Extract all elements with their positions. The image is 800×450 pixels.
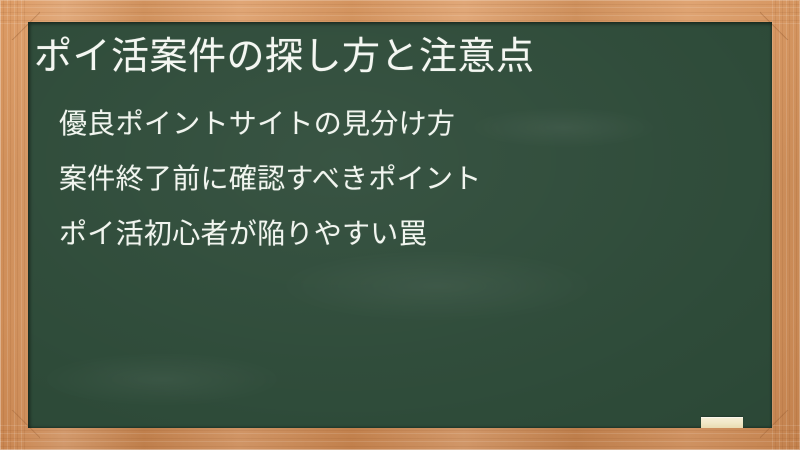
board-content: ポイ活案件の探し方と注意点 優良ポイントサイトの見分け方 案件終了前に確認すべき…: [28, 22, 772, 428]
chalkboard: ポイ活案件の探し方と注意点 優良ポイントサイトの見分け方 案件終了前に確認すべき…: [28, 22, 772, 428]
frame-grain-right: [772, 0, 800, 450]
list-item: 案件終了前に確認すべきポイント: [59, 159, 482, 199]
page-title: ポイ活案件の探し方と注意点: [34, 34, 535, 80]
frame-grain-left: [0, 0, 28, 450]
frame-grain-top: [0, 0, 800, 24]
slide-canvas: ポイ活案件の探し方と注意点 優良ポイントサイトの見分け方 案件終了前に確認すべき…: [0, 0, 800, 450]
chalk-eraser-icon: [701, 417, 743, 428]
bullet-list: 優良ポイントサイトの見分け方 案件終了前に確認すべきポイント ポイ活初心者が陥り…: [59, 104, 482, 254]
list-item: 優良ポイントサイトの見分け方: [59, 104, 482, 144]
list-item: ポイ活初心者が陥りやすい罠: [59, 214, 482, 254]
